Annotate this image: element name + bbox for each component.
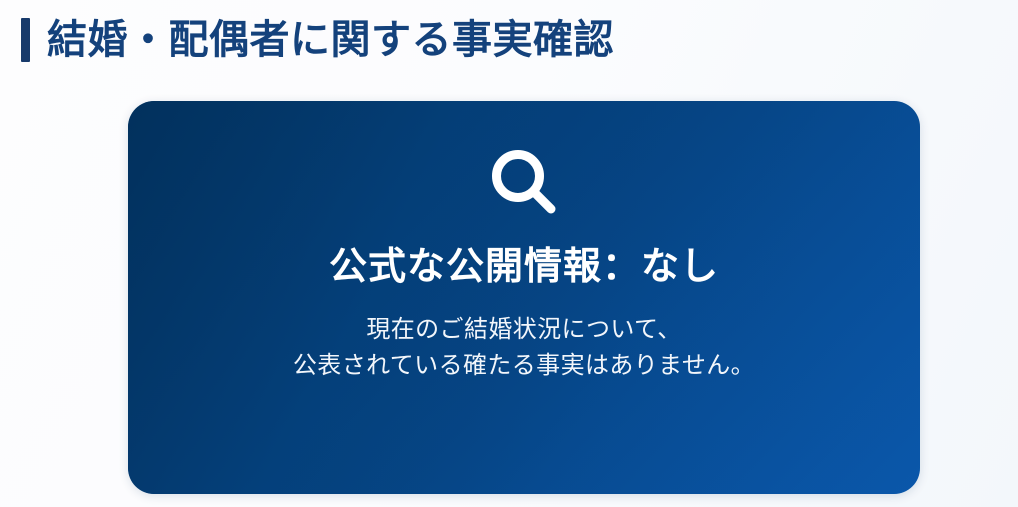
official-info-card: 公式な公開情報：なし 現在のご結婚状況について、 公表されている確たる事実はあり… bbox=[128, 101, 920, 494]
accent-bar-icon bbox=[21, 18, 30, 62]
section-heading: 結婚・配偶者に関する事実確認 bbox=[21, 14, 614, 66]
card-content: 公式な公開情報：なし 現在のご結婚状況について、 公表されている確たる事実はあり… bbox=[128, 101, 920, 384]
card-body-line-2: 公表されている確たる事実はありません。 bbox=[293, 347, 755, 383]
page-root: 結婚・配偶者に関する事実確認 公式な公開情報：なし 現在のご結婚状況について、 … bbox=[0, 0, 1018, 507]
card-body-text: 現在のご結婚状況について、 公表されている確たる事実はありません。 bbox=[293, 311, 755, 384]
card-heading: 公式な公開情報：なし bbox=[329, 245, 719, 289]
page-title: 結婚・配偶者に関する事実確認 bbox=[47, 20, 614, 60]
card-body-line-1: 現在のご結婚状況について、 bbox=[293, 311, 755, 347]
search-icon bbox=[489, 147, 559, 217]
